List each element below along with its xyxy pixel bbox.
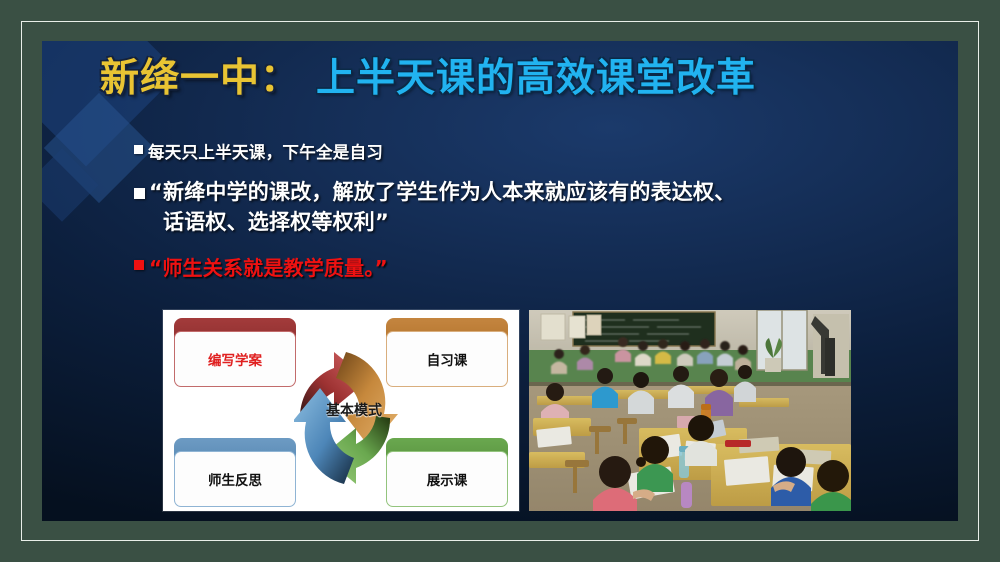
bullet-text-3: “师生关系就是教学质量。” — [149, 252, 388, 281]
diagram-center-label: 基本模式 — [318, 400, 390, 420]
decorative-diamond-small — [42, 148, 99, 222]
bullet-text-2-line2: 话语权、选择权等权利” — [149, 208, 735, 238]
bullet-text-1: 每天只上半天课，下午全是自习 — [148, 139, 383, 163]
square-bullet-icon — [134, 252, 144, 273]
diagram-box-top-left: 编写学案 — [174, 318, 296, 387]
diagram-box-label: 自习课 — [386, 331, 508, 387]
bullet-item-2: “新绛中学的课改，解放了学生作为人本来就应该有的表达权、 话语权、选择权等权利” — [134, 178, 934, 238]
presentation-slide: 新绛一中：上半天课的高效课堂改革 每天只上半天课，下午全是自习 “新绛中学的课改… — [42, 41, 958, 521]
square-bullet-icon — [134, 178, 145, 202]
classroom-photo — [529, 310, 851, 511]
slide-title: 新绛一中：上半天课的高效课堂改革 — [100, 59, 930, 98]
bullet-list: 每天只上半天课，下午全是自习 “新绛中学的课改，解放了学生作为人本来就应该有的表… — [134, 139, 934, 281]
diagram-box-top-right: 自习课 — [386, 318, 508, 387]
bullet-text-2-line1: “新绛中学的课改，解放了学生作为人本来就应该有的表达权、 — [149, 180, 735, 204]
square-bullet-icon — [134, 139, 143, 157]
diagram-box-label: 展示课 — [386, 451, 508, 507]
diagram-box-bottom-right: 展示课 — [386, 438, 508, 507]
cycle-diagram-image: 编写学案 自习课 师生反思 展示课 — [163, 310, 519, 511]
bullet-item-1: 每天只上半天课，下午全是自习 — [134, 139, 934, 163]
bullet-text-2: “新绛中学的课改，解放了学生作为人本来就应该有的表达权、 话语权、选择权等权利” — [149, 178, 735, 238]
classroom-photo-graphic — [529, 310, 851, 511]
title-school-name: 新绛一中： — [100, 59, 300, 98]
diagram-box-label: 编写学案 — [174, 331, 296, 387]
diagram-box-label: 师生反思 — [174, 451, 296, 507]
title-subject: 上半天课的高效课堂改革 — [316, 59, 756, 98]
diagram-box-bottom-left: 师生反思 — [174, 438, 296, 507]
bullet-item-3: “师生关系就是教学质量。” — [134, 252, 934, 281]
